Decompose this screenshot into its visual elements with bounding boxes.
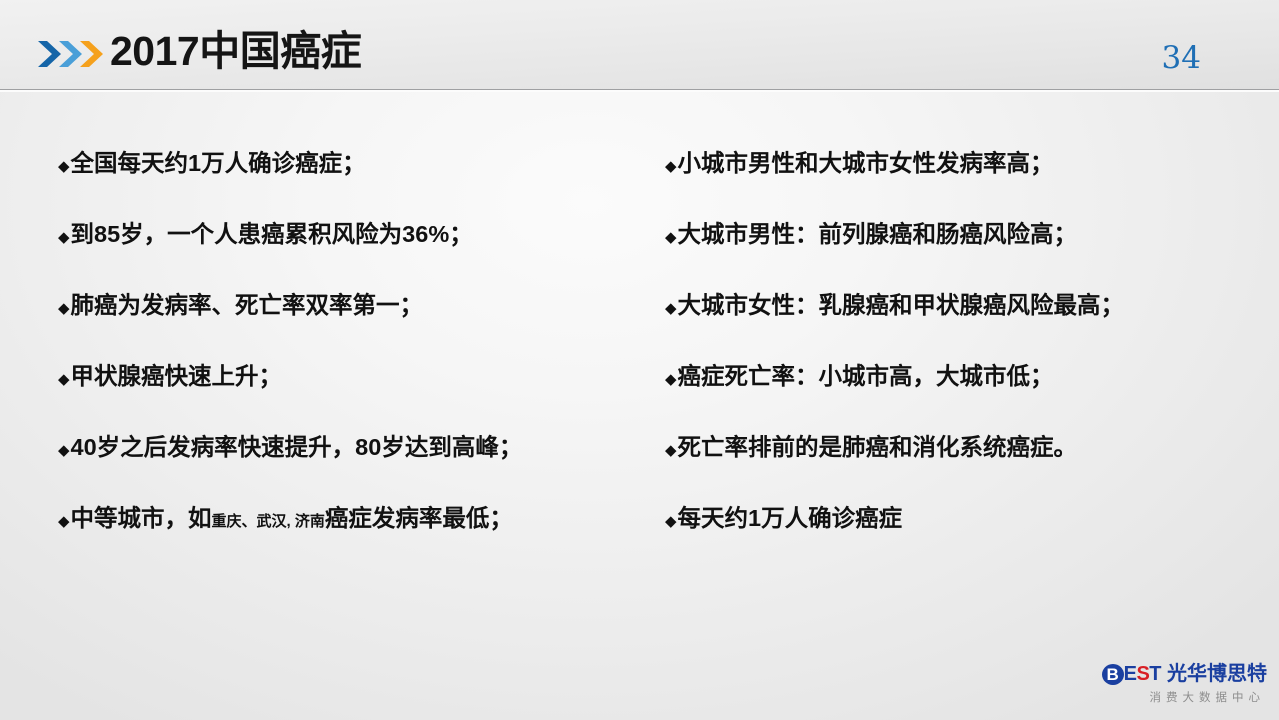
list-item-label: 小城市男性和大城市女性发病率高； (678, 148, 1054, 178)
list-item: ◆ 每天约1万人确诊癌症 (665, 503, 902, 537)
bullet-diamond-icon: ◆ (58, 507, 70, 537)
list-item-label: 到85岁，一个人患癌累积风险为36%； (71, 219, 473, 249)
logo-letter-s: S (1136, 664, 1149, 685)
bullet-diamond-icon: ◆ (58, 152, 70, 182)
list-item-label: 死亡率排前的是肺癌和消化系统癌症。 (678, 432, 1078, 462)
logo-company-name: 光华博思特 (1167, 664, 1267, 685)
bullet-diamond-icon: ◆ (58, 223, 70, 253)
logo-wordmark: BEST 光华博思特 (1091, 661, 1267, 687)
list-item-label-cities: 重庆、武汉, 济南 (212, 507, 325, 537)
list-item: ◆ 癌症死亡率：小城市高，大城市低； (665, 361, 1054, 395)
bullet-diamond-icon: ◆ (665, 223, 677, 253)
list-item: ◆ 到85岁，一个人患癌累积风险为36%； (58, 219, 473, 253)
footer-brand-logo: BEST 光华博思特 消费大数据中心 (1091, 661, 1267, 706)
list-item: ◆ 大城市男性：前列腺癌和肠癌风险高； (665, 219, 1077, 253)
list-item-label: 癌症死亡率：小城市高，大城市低； (678, 361, 1054, 391)
list-item-label: 大城市男性：前列腺癌和肠癌风险高； (678, 219, 1078, 249)
list-item: ◆ 小城市男性和大城市女性发病率高； (665, 148, 1054, 182)
bullet-diamond-icon: ◆ (665, 507, 677, 537)
page-title: 2017中国癌症 (110, 24, 361, 78)
logo-letter-t: T (1149, 664, 1161, 685)
slide-body: ◆ 全国每天约1万人确诊癌症； ◆ 到85岁，一个人患癌累积风险为36%； ◆ … (0, 90, 1279, 720)
bullet-diamond-icon: ◆ (58, 294, 70, 324)
list-item-label: 肺癌为发病率、死亡率双率第一； (71, 290, 424, 320)
list-item-label-part-a: 中等城市，如 (71, 503, 212, 533)
logo-b-mark-icon: B (1102, 664, 1124, 685)
list-item: ◆ 肺癌为发病率、死亡率双率第一； (58, 290, 423, 324)
list-item: ◆ 40岁之后发病率快速提升，80岁达到高峰； (58, 432, 522, 466)
list-item: ◆ 死亡率排前的是肺癌和消化系统癌症。 (665, 432, 1077, 466)
bullet-diamond-icon: ◆ (58, 436, 70, 466)
bullet-diamond-icon: ◆ (665, 294, 677, 324)
list-item-label-part-b: 癌症发病率最低； (325, 503, 513, 533)
logo-tagline: 消费大数据中心 (1091, 691, 1267, 706)
logo-letter-e: E (1124, 664, 1137, 685)
bullet-diamond-icon: ◆ (58, 365, 70, 395)
bullet-diamond-icon: ◆ (665, 436, 677, 466)
chevron-triple-icon (38, 38, 110, 70)
list-item: ◆ 甲状腺癌快速上升； (58, 361, 282, 395)
list-item-label: 40岁之后发病率快速提升，80岁达到高峰； (71, 432, 523, 462)
page-number: 34 (1162, 41, 1201, 75)
bullet-diamond-icon: ◆ (665, 152, 677, 182)
slide-canvas: 2017中国癌症 34 ◆ 全国每天约1万人确诊癌症； ◆ 到85岁，一个人患癌… (0, 0, 1279, 720)
list-item-label: 每天约1万人确诊癌症 (678, 503, 903, 533)
list-item: ◆ 大城市女性：乳腺癌和甲状腺癌风险最高； (665, 290, 1124, 324)
list-item-label: 甲状腺癌快速上升； (71, 361, 283, 391)
list-item: ◆ 全国每天约1万人确诊癌症； (58, 148, 366, 182)
list-item-label: 大城市女性：乳腺癌和甲状腺癌风险最高； (678, 290, 1125, 320)
list-item-label: 全国每天约1万人确诊癌症； (71, 148, 366, 178)
slide-header: 2017中国癌症 34 (0, 0, 1279, 90)
list-item: ◆ 中等城市，如 重庆、武汉, 济南 癌症发病率最低； (58, 503, 513, 537)
bullet-diamond-icon: ◆ (665, 365, 677, 395)
